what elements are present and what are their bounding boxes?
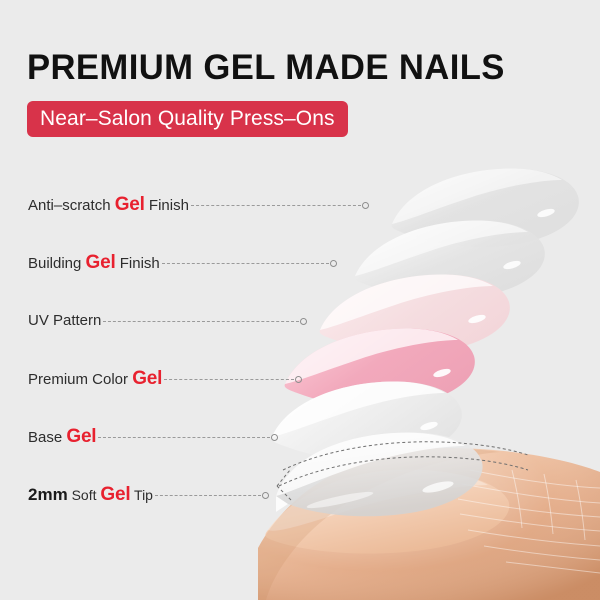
callout-leader-line — [103, 315, 307, 327]
callout-building-gel-finish: Building Gel Finish — [28, 250, 337, 276]
callout-uv-pattern: UV Pattern — [28, 308, 307, 334]
callout-premium-color-gel: Premium Color Gel — [28, 366, 302, 392]
callout-label: Anti–scratch Gel Finish — [28, 195, 191, 216]
callout-leader-line — [155, 489, 269, 501]
layer-anti-scratch-gel-finish — [392, 168, 579, 247]
callout-label: Base Gel — [28, 427, 98, 448]
callout-leader-line — [164, 373, 302, 385]
leader-endpoint-dot — [271, 434, 278, 441]
layer-soft-gel-tip — [276, 432, 483, 516]
nail-layer-illustration — [0, 0, 600, 600]
callout-anti-scratch-gel-finish: Anti–scratch Gel Finish — [28, 192, 369, 218]
layer-uv-pattern — [320, 274, 510, 353]
fingertip — [258, 448, 600, 600]
callout-label: UV Pattern — [28, 311, 103, 331]
leader-dash — [103, 321, 299, 322]
leader-endpoint-dot — [330, 260, 337, 267]
layer-building-gel-finish — [355, 220, 545, 299]
leader-endpoint-dot — [300, 318, 307, 325]
callout-label: 2mm Soft Gel Tip — [28, 485, 155, 506]
callout-2mm-soft-gel-tip: 2mm Soft Gel Tip — [28, 482, 269, 508]
leader-endpoint-dot — [295, 376, 302, 383]
leader-endpoint-dot — [362, 202, 369, 209]
leader-dash — [164, 379, 294, 380]
callout-label: Building Gel Finish — [28, 253, 162, 274]
callout-leader-line — [191, 199, 369, 211]
leader-dash — [162, 263, 329, 264]
subtitle-badge: Near–Salon Quality Press–Ons — [27, 101, 348, 137]
callout-leader-line — [162, 257, 337, 269]
leader-endpoint-dot — [262, 492, 269, 499]
callout-leader-line — [98, 431, 278, 443]
callout-label: Premium Color Gel — [28, 369, 164, 390]
layer-premium-color-gel — [285, 328, 475, 407]
thickness-dimension-marker — [277, 442, 528, 500]
leader-dash — [191, 205, 361, 206]
callout-base-gel: Base Gel — [28, 424, 278, 450]
leader-dash — [98, 437, 270, 438]
poster-canvas: PREMIUM GEL MADE NAILS Near–Salon Qualit… — [0, 0, 600, 600]
leader-dash — [155, 495, 261, 496]
layer-base-gel — [272, 381, 462, 460]
page-title: PREMIUM GEL MADE NAILS — [27, 48, 505, 88]
